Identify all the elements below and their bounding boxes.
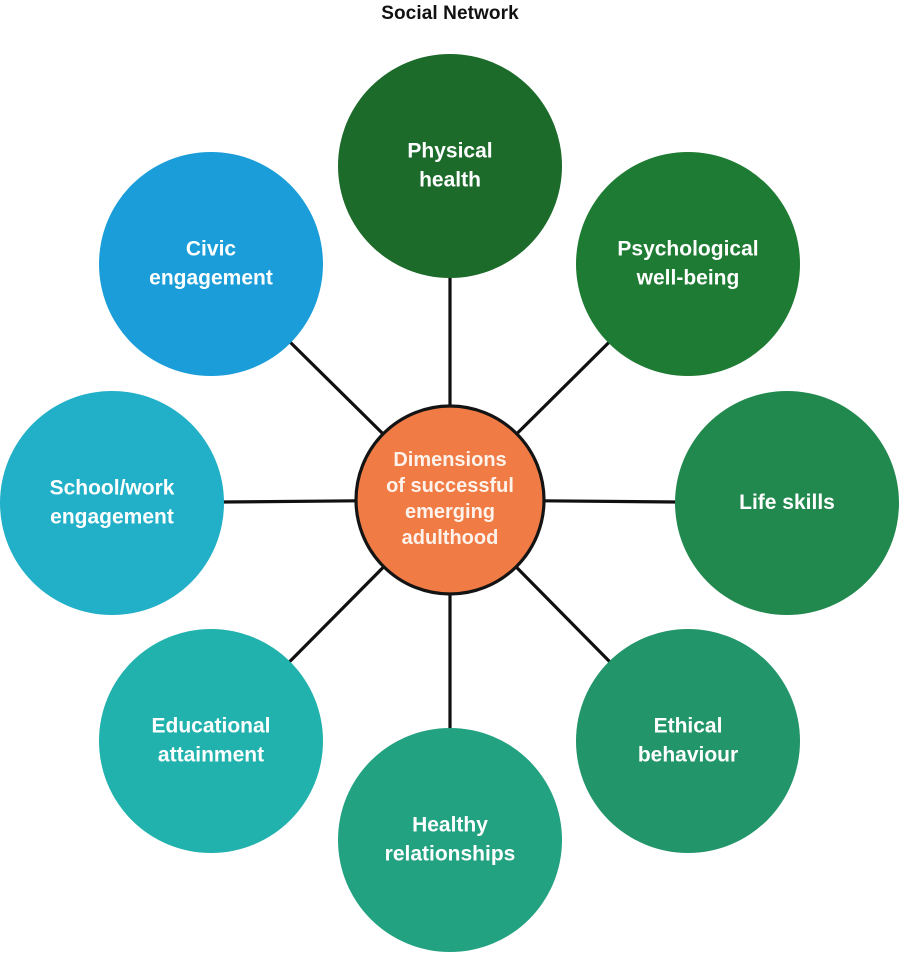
network-canvas: PhysicalhealthPsychologicalwell-beingLif… [0,0,900,955]
node-life-skills[interactable]: Life skills [675,391,899,615]
node-circle [576,629,800,853]
node-label: Life skills [739,491,835,514]
node-ethical-behaviour[interactable]: Ethicalbehaviour [576,629,800,853]
node-circle [99,629,323,853]
node-circle [576,152,800,376]
node-psychological-well-being[interactable]: Psychologicalwell-being [576,152,800,376]
node-educational-attainment[interactable]: Educationalattainment [99,629,323,853]
node-school-work-engagement[interactable]: School/workengagement [0,391,224,615]
node-dimensions-of-successful-emerging-adulthood[interactable]: Dimensionsof successfulemergingadulthood [356,406,544,594]
edge-hub-to-educational-attainment [289,566,384,662]
nodes-layer: PhysicalhealthPsychologicalwell-beingLif… [0,54,899,952]
edge-hub-to-life-skills [543,501,676,502]
node-circle [0,391,224,615]
edge-hub-to-psychological-well-being [516,342,609,434]
edge-hub-to-ethical-behaviour [515,566,610,662]
edge-hub-to-school-work-engagement [223,501,357,502]
node-circle [338,728,562,952]
node-physical-health[interactable]: Physicalhealth [338,54,562,278]
hub-circle [356,406,544,594]
node-circle [338,54,562,278]
node-healthy-relationships[interactable]: Healthyrelationships [338,728,562,952]
social-network-diagram: Social Network PhysicalhealthPsychologic… [0,0,900,955]
node-circle [99,152,323,376]
node-civic-engagement[interactable]: Civicengagement [99,152,323,376]
edge-hub-to-civic-engagement [290,342,384,435]
